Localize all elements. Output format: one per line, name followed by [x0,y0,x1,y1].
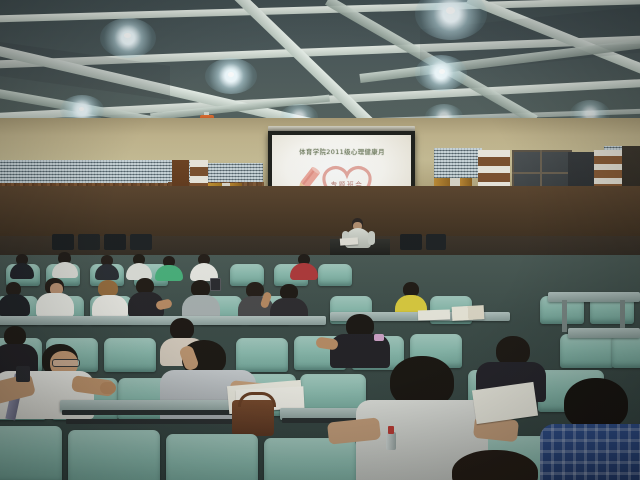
student-back-green [155,256,183,280]
ceiling [0,0,640,132]
acoustic-panel-left-2 [205,163,263,183]
student-row4-dark-2 [270,284,308,318]
student-row4-black [0,282,30,314]
lecture-hall-photo: 体育学院2011级心理健康月 专题班会 [0,0,640,480]
water-bottle [386,426,396,450]
slide-title: 体育学院2011级心理健康月 [282,147,402,156]
back-chair-row [0,228,640,250]
handbag-strap [238,392,276,407]
student-front-bottom-center [430,450,560,480]
student-front-left-edge [0,366,44,426]
student-back-white-5 [190,254,218,280]
student-back-red [290,254,318,279]
mobile-phone [210,278,221,291]
student-back-1 [10,254,34,278]
acoustic-panel-right [434,148,482,178]
window-rail [512,172,568,174]
student-row4-darkshirt [128,278,164,316]
student-row4-white-smiling [36,278,74,316]
student-row4-phone-user [238,282,274,318]
student-row4-blonde [92,280,128,316]
eyeglasses-icon [52,359,80,367]
student-back-2 [52,252,78,278]
empty-desk-right-2 [568,328,640,338]
student-back-3 [95,255,119,279]
desk-leg-right-1 [562,300,567,332]
student-back-4 [126,254,152,279]
